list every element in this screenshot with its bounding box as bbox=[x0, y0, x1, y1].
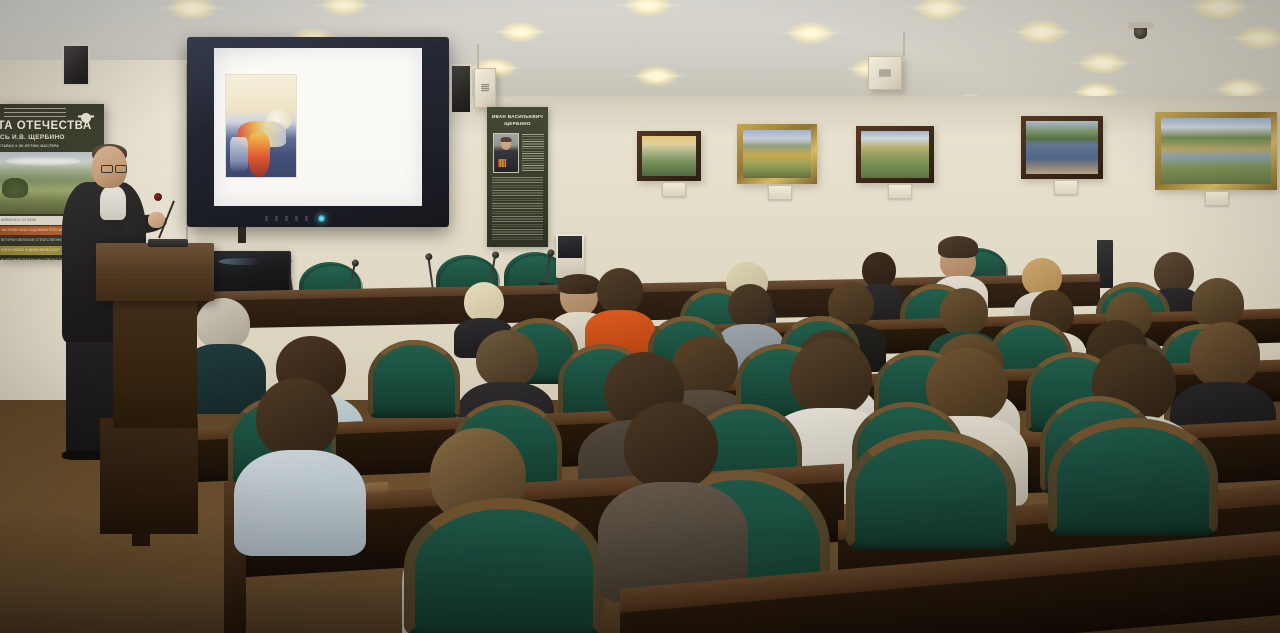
monitor-glare bbox=[219, 258, 271, 265]
audience-chair bbox=[368, 340, 460, 418]
foreground-chair bbox=[1048, 418, 1218, 536]
slide-shape bbox=[230, 137, 248, 171]
hair bbox=[558, 274, 600, 294]
painting-label-card bbox=[768, 185, 792, 200]
display-screen bbox=[214, 48, 422, 206]
head bbox=[476, 330, 538, 388]
head bbox=[196, 298, 250, 350]
banner-art-tree bbox=[2, 178, 28, 198]
poster-title-line1: ИВАН ВАСИЛЬЕВИЧ bbox=[487, 113, 548, 120]
podium-lectern bbox=[96, 243, 214, 301]
microphone-head-icon bbox=[154, 193, 162, 201]
head bbox=[624, 402, 718, 490]
slide-image bbox=[225, 74, 297, 178]
banner-subtitle: ПИСЬ И.В. ЩЕРБИНО bbox=[0, 134, 104, 141]
ceiling-spotlight bbox=[1018, 20, 1066, 44]
painting-autumn-valley bbox=[737, 124, 817, 184]
foreground-chair bbox=[404, 498, 604, 633]
torso bbox=[234, 450, 366, 556]
painting-canvas bbox=[743, 130, 811, 178]
banner-art-clouds bbox=[6, 156, 80, 166]
head bbox=[1190, 322, 1260, 388]
painting-river-meadow bbox=[1155, 112, 1277, 190]
poster-title-line2: ЩЕРБИНО bbox=[487, 121, 548, 126]
head bbox=[597, 268, 643, 314]
painting-canvas bbox=[861, 131, 929, 178]
portrait-hair bbox=[501, 137, 512, 142]
ceiling-dome-camera-icon bbox=[1134, 28, 1147, 39]
painting-canvas bbox=[1026, 121, 1098, 174]
podium-notes bbox=[148, 239, 188, 247]
ceiling-spotlight bbox=[500, 22, 542, 42]
painting-label-card bbox=[662, 182, 686, 197]
wall-speaker-left bbox=[474, 68, 496, 108]
slide-shape bbox=[248, 133, 270, 177]
display-bezel bbox=[187, 37, 449, 47]
presentation-display[interactable] bbox=[187, 37, 449, 227]
speaker-grill-icon bbox=[879, 69, 891, 76]
chair-rim bbox=[846, 430, 1016, 550]
ceiling-spotlight bbox=[788, 22, 834, 44]
ceiling-spotlight bbox=[1080, 52, 1126, 74]
poster-portrait-photo bbox=[493, 133, 519, 173]
podium-column bbox=[113, 298, 197, 428]
speaker-cable bbox=[477, 44, 479, 70]
painting-canvas bbox=[642, 136, 696, 176]
conference-hall-photo: ОТА ОТЕЧЕСТВА ПИСЬ И.В. ЩЕРБИНО ВЫСТАВКА… bbox=[0, 0, 1280, 633]
head bbox=[256, 378, 338, 458]
portrait-medals-icon bbox=[498, 159, 506, 167]
monitor-screen bbox=[558, 236, 582, 258]
hair bbox=[938, 236, 978, 258]
podium-base bbox=[100, 418, 198, 534]
speaker-cable bbox=[903, 32, 905, 56]
banner-caption: ВЫСТАВКА К 80-ЛЕТИЮ МАСТЕРА bbox=[0, 144, 104, 148]
biography-poster: ИВАН ВАСИЛЬЕВИЧ ЩЕРБИНО bbox=[487, 107, 548, 247]
glasses-icon bbox=[101, 165, 127, 171]
head bbox=[790, 338, 872, 416]
head bbox=[464, 282, 504, 322]
banner-ministry-text bbox=[4, 108, 66, 118]
mic-head-icon bbox=[491, 251, 499, 259]
painting-sunset-field bbox=[637, 131, 701, 181]
power-led-icon bbox=[318, 215, 325, 222]
banner-title: ОТА ОТЕЧЕСТВА bbox=[0, 120, 104, 132]
painting-label-card bbox=[1054, 180, 1078, 195]
chair-rim bbox=[404, 498, 604, 633]
chair-rim bbox=[1048, 418, 1218, 536]
painting-label-card bbox=[1205, 191, 1229, 206]
poster-body-text bbox=[492, 177, 543, 241]
mic-head-icon bbox=[546, 249, 554, 257]
painting-canvas bbox=[1161, 118, 1271, 184]
wall-speaker-corner bbox=[62, 44, 90, 86]
poster-text-column bbox=[522, 134, 544, 172]
head bbox=[862, 252, 896, 288]
display-mount bbox=[238, 227, 246, 243]
presenter-shirt bbox=[100, 186, 126, 220]
chair-rim bbox=[368, 340, 460, 418]
painting-river-bank bbox=[1021, 116, 1103, 179]
operator-monitor bbox=[556, 234, 584, 278]
ceiling-spotlight bbox=[636, 66, 678, 86]
wall-speaker-left-dark bbox=[450, 64, 472, 114]
foreground-chair bbox=[846, 430, 1016, 550]
head bbox=[940, 288, 988, 336]
painting-green-hills bbox=[856, 126, 934, 183]
head bbox=[728, 284, 772, 328]
painting-label-card bbox=[888, 184, 912, 199]
ceiling-spotlight bbox=[1236, 26, 1280, 50]
display-buttons[interactable] bbox=[265, 216, 309, 221]
wall-speaker-right bbox=[868, 56, 902, 90]
speaker-grill-icon bbox=[481, 84, 489, 92]
